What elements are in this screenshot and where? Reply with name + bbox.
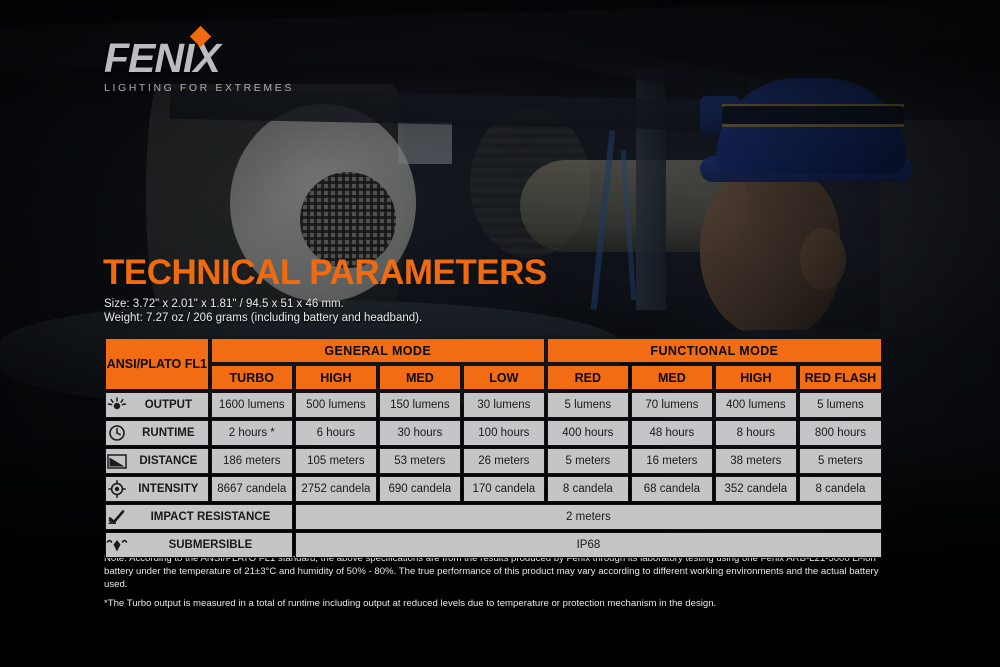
- spec-sheet-page: FENIX LIGHTING FOR EXTREMES TECHNICAL PA…: [0, 0, 1000, 667]
- cell-distance-red: 5 meters: [547, 448, 629, 474]
- mode-header-red-flash: RED FLASH: [799, 365, 882, 390]
- cell-output-red-flash: 5 lumens: [799, 392, 882, 418]
- mode-header-med: MED: [379, 365, 461, 390]
- fenix-logo: FENIX LIGHTING FOR EXTREMES: [104, 38, 294, 94]
- cell-runtime-red-high: 8 hours: [715, 420, 797, 446]
- weight-line: Weight: 7.27 oz / 206 grams (including b…: [104, 312, 422, 324]
- table-row-intensity: INTENSITY 8667 candela 2752 candela 690 …: [105, 476, 882, 502]
- cell-output-red: 5 lumens: [547, 392, 629, 418]
- functional-mode-header: FUNCTIONAL MODE: [547, 338, 882, 363]
- cell-distance-turbo: 186 meters: [211, 448, 293, 474]
- row-label-text: OUTPUT: [135, 399, 208, 411]
- row-label-submersible: SUBMERSIBLE: [105, 532, 293, 558]
- footer-bar: [0, 625, 1000, 667]
- note-turbo-asterisk: *The Turbo output is measured in a total…: [104, 598, 894, 609]
- table-row-output: OUTPUT 1600 lumens 500 lumens 150 lumens…: [105, 392, 882, 418]
- cell-intensity-red-med: 68 candela: [631, 476, 713, 502]
- cell-intensity-red-flash: 8 candela: [799, 476, 882, 502]
- crosshair-icon: [106, 480, 128, 498]
- cell-intensity-high: 2752 candela: [295, 476, 377, 502]
- cell-distance-med: 53 meters: [379, 448, 461, 474]
- cell-output-red-high: 400 lumens: [715, 392, 797, 418]
- row-label-impact-resistance: IMPACT RESISTANCE: [105, 504, 293, 530]
- cell-distance-red-flash: 5 meters: [799, 448, 882, 474]
- water-drop-icon: [106, 536, 128, 554]
- cell-submersible-value: IP68: [295, 532, 882, 558]
- specifications-table: ANSI/PLATO FL1 GENERAL MODE FUNCTIONAL M…: [103, 336, 884, 560]
- cell-output-low: 30 lumens: [463, 392, 545, 418]
- mode-header-red-med: MED: [631, 365, 713, 390]
- beam-icon: [106, 452, 128, 470]
- cell-runtime-low: 100 hours: [463, 420, 545, 446]
- cell-runtime-turbo: 2 hours *: [211, 420, 293, 446]
- general-mode-header: GENERAL MODE: [211, 338, 545, 363]
- cell-distance-red-high: 38 meters: [715, 448, 797, 474]
- mode-header-red-high: HIGH: [715, 365, 797, 390]
- cell-intensity-red: 8 candela: [547, 476, 629, 502]
- cell-runtime-red-med: 48 hours: [631, 420, 713, 446]
- cell-distance-red-med: 16 meters: [631, 448, 713, 474]
- ansi-plato-label: ANSI/PLATO FL1: [105, 338, 209, 390]
- table-header-mode-row: TURBO HIGH MED LOW RED MED HIGH RED FLAS…: [105, 365, 882, 390]
- cell-intensity-red-high: 352 candela: [715, 476, 797, 502]
- size-line: Size: 3.72" x 2.01" x 1.81" / 94.5 x 51 …: [104, 298, 344, 310]
- row-label-text: DISTANCE: [135, 455, 208, 467]
- table-row-impact-resistance: IMPACT RESISTANCE 2 meters: [105, 504, 882, 530]
- table-row-submersible: SUBMERSIBLE IP68: [105, 532, 882, 558]
- cell-output-med: 150 lumens: [379, 392, 461, 418]
- mode-header-high: HIGH: [295, 365, 377, 390]
- clock-icon: [106, 424, 128, 442]
- cell-distance-high: 105 meters: [295, 448, 377, 474]
- row-label-output: OUTPUT: [105, 392, 209, 418]
- row-label-runtime: RUNTIME: [105, 420, 209, 446]
- cell-intensity-turbo: 8667 candela: [211, 476, 293, 502]
- cell-output-high: 500 lumens: [295, 392, 377, 418]
- impact-icon: [106, 508, 128, 526]
- cell-runtime-high: 6 hours: [295, 420, 377, 446]
- mode-header-low: LOW: [463, 365, 545, 390]
- cell-output-turbo: 1600 lumens: [211, 392, 293, 418]
- cell-output-red-med: 70 lumens: [631, 392, 713, 418]
- cell-distance-low: 26 meters: [463, 448, 545, 474]
- table-row-distance: DISTANCE 186 meters 105 meters 53 meters…: [105, 448, 882, 474]
- logo-tagline: LIGHTING FOR EXTREMES: [104, 82, 294, 94]
- mode-header-turbo: TURBO: [211, 365, 293, 390]
- row-label-text: INTENSITY: [135, 483, 208, 495]
- cell-intensity-med: 690 candela: [379, 476, 461, 502]
- row-label-text: RUNTIME: [135, 427, 208, 439]
- mode-header-red: RED: [547, 365, 629, 390]
- row-label-text: SUBMERSIBLE: [135, 539, 292, 551]
- row-label-intensity: INTENSITY: [105, 476, 209, 502]
- cell-runtime-med: 30 hours: [379, 420, 461, 446]
- sunburst-icon: [106, 396, 128, 414]
- cell-intensity-low: 170 candela: [463, 476, 545, 502]
- table-row-runtime: RUNTIME 2 hours * 6 hours 30 hours 100 h…: [105, 420, 882, 446]
- cell-runtime-red: 400 hours: [547, 420, 629, 446]
- row-label-text: IMPACT RESISTANCE: [135, 511, 292, 523]
- table-header-group-row: ANSI/PLATO FL1 GENERAL MODE FUNCTIONAL M…: [105, 338, 882, 363]
- row-label-distance: DISTANCE: [105, 448, 209, 474]
- cell-impact-resistance-value: 2 meters: [295, 504, 882, 530]
- page-title: TECHNICAL PARAMETERS: [103, 253, 547, 293]
- cell-runtime-red-flash: 800 hours: [799, 420, 882, 446]
